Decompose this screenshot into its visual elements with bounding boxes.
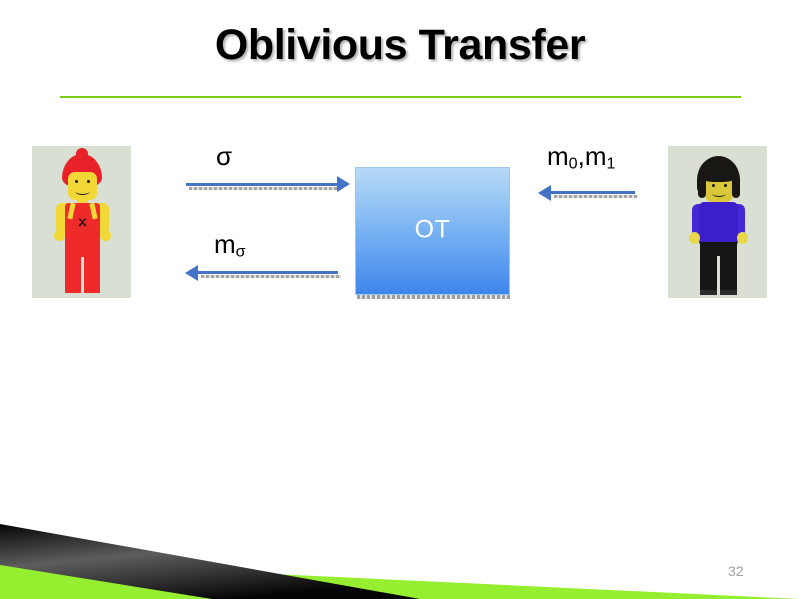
ot-box-label: OT [356, 215, 509, 244]
m0-m1-separator: , [578, 141, 585, 171]
m-sigma-base: m [214, 229, 236, 259]
sigma-arrow-line [186, 183, 338, 186]
m-sigma-subscript: σ [236, 243, 246, 261]
ot-box-shadow [357, 295, 510, 299]
page-number: 32 [728, 563, 744, 579]
sigma-arrow-shadow [189, 187, 341, 190]
sigma-label: σ [216, 141, 232, 172]
dark-wedge [0, 524, 420, 599]
m-sigma-arrow-line [198, 271, 338, 274]
lego-minifigure-red-icon [32, 146, 131, 298]
m0-subscript: 0 [569, 155, 578, 173]
left-party-photo [32, 146, 131, 298]
right-party-photo [668, 146, 767, 298]
m0-m1-arrow-line [551, 191, 635, 194]
m0-m1-arrow-head-icon [538, 185, 551, 201]
m-sigma-label: mσ [214, 229, 246, 262]
green-wedge [0, 561, 800, 599]
m1-subscript: 1 [607, 155, 616, 173]
m-sigma-arrow-shadow [201, 275, 341, 278]
m0-base: m [547, 141, 569, 171]
m-sigma-arrow-head-icon [185, 265, 198, 281]
page-title: Oblivious Transfer [0, 21, 800, 70]
m0-m1-label: m0,m1 [547, 141, 616, 174]
m0-m1-arrow-shadow [554, 195, 638, 198]
slide: Oblivious Transfer [0, 0, 800, 599]
sigma-arrow-head-icon [337, 176, 350, 192]
lego-minifigure-blue-icon [668, 146, 767, 298]
oblivious-transfer-box: OT [355, 167, 510, 295]
m1-base: m [585, 141, 607, 171]
title-divider [60, 96, 741, 98]
footer-decoration [0, 490, 800, 599]
